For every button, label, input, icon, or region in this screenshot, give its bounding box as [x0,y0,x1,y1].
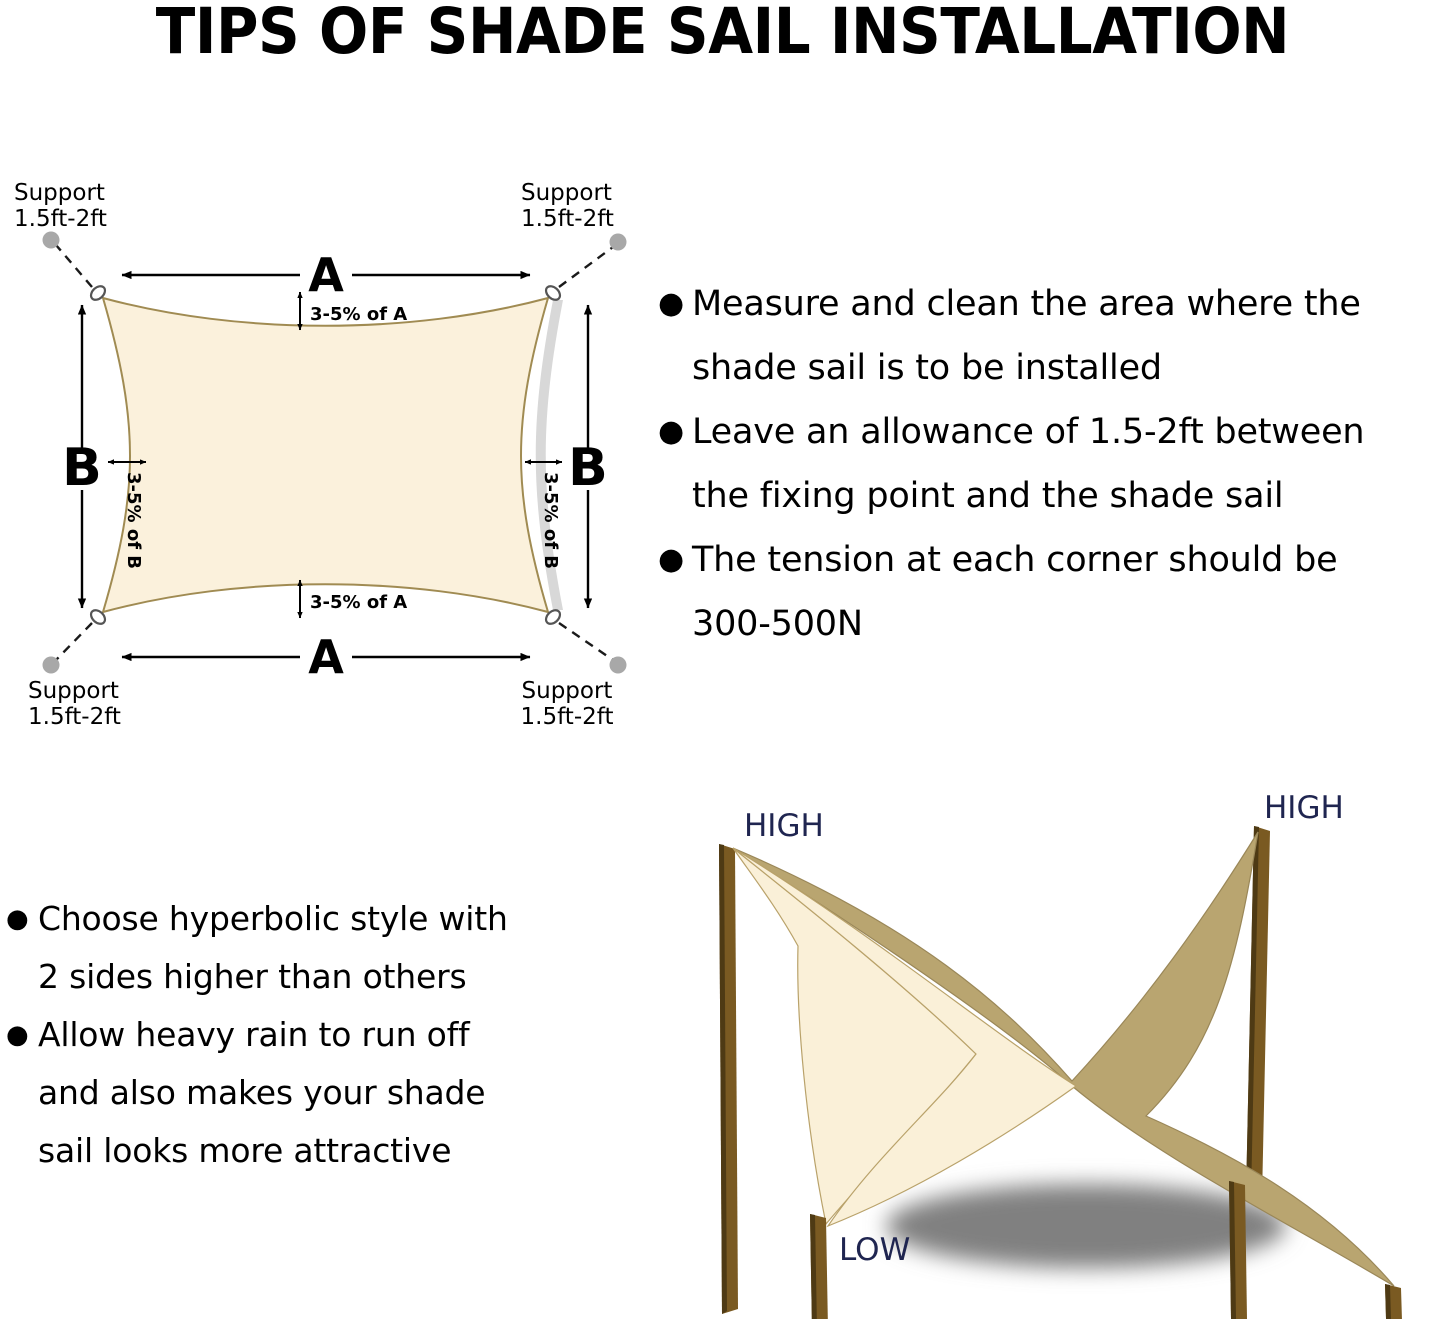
page-title: TIPS OF SHADE SAIL INSTALLATION [58,0,1387,68]
support-label-top-left-line2: 1.5ft-2ft [14,206,107,232]
list-item-continuation: 300-500N [648,592,1445,656]
support-label-bottom-left: Support 1.5ft-2ft [28,678,121,730]
support-label-bottom-left-line1: Support [28,678,119,704]
bullet-icon: ● [648,528,692,592]
list-item-label-line2: and also makes your shade [38,1064,620,1122]
support-dot-top-right [610,234,627,251]
post-low-left [810,1214,829,1319]
hyperbolic-shade-sail-illustration: HIGH HIGH LOW LOW [676,786,1445,1319]
support-label-bottom-left-line2: 1.5ft-2ft [28,704,121,730]
label-high-right: HIGH [1264,790,1344,826]
list-item-continuation: shade sail is to be installed [648,336,1445,400]
list-item-label: Leave an allowance of 1.5-2ft between [692,400,1445,464]
ground-shadow [886,1184,1286,1268]
installation-tips-list-bottom: ● Choose hyperbolic style with 2 sides h… [0,890,620,1180]
dimension-a-bottom-label: A [308,630,344,684]
sail-body [103,298,548,612]
curve-depth-b-left-label: 3-5% of B [123,472,144,569]
curve-depth-a-bottom-label: 3-5% of A [310,592,407,613]
list-item-label-line2: shade sail is to be installed [692,336,1445,400]
list-item: ● The tension at each corner should be [648,528,1445,592]
list-item-label-line2: 2 sides higher than others [38,948,620,1006]
list-item-label: Choose hyperbolic style with [38,890,620,948]
dimension-a-top-label: A [308,248,344,302]
support-label-bottom-right-line1: Support [522,678,613,704]
support-label-top-left: Support 1.5ft-2ft [14,180,107,232]
list-item-continuation: the fixing point and the shade sail [648,464,1445,528]
support-dot-top-left [43,232,60,249]
bullet-icon: ● [0,890,38,948]
dimension-b-right-label: B [568,438,608,498]
support-label-top-left-line1: Support [14,180,105,206]
list-item-label-line2: 300-500N [692,592,1445,656]
support-dot-bottom-right [610,657,627,674]
list-item-label: Allow heavy rain to run off [38,1006,620,1064]
label-high-left: HIGH [744,808,824,844]
bullet-icon: ● [0,1006,38,1064]
support-label-top-right-line1: Support [521,180,612,206]
list-item-continuation: and also makes your shade [0,1064,620,1122]
curve-depth-a-top-label: 3-5% of A [310,304,407,325]
list-item: ● Allow heavy rain to run off [0,1006,620,1064]
list-item: ● Choose hyperbolic style with [0,890,620,948]
list-item-label: Measure and clean the area where the [692,272,1445,336]
list-item-continuation: 2 sides higher than others [0,948,620,1006]
support-label-bottom-right-line2: 1.5ft-2ft [521,704,614,730]
post-support-midright [1229,1181,1248,1319]
rectangular-shade-sail-diagram: A A B B 3-5% of A 3-5% of A 3-5% of B 3-… [0,160,660,740]
list-item-label-line2: the fixing point and the shade sail [692,464,1445,528]
support-label-bottom-right: Support 1.5ft-2ft [521,678,614,730]
support-label-top-right: Support 1.5ft-2ft [521,180,614,232]
bullet-icon: ● [648,400,692,464]
curve-depth-b-right-label: 3-5% of B [540,472,561,569]
list-item: ● Measure and clean the area where the [648,272,1445,336]
list-item-continuation: sail looks more attractive [0,1122,620,1180]
installation-tips-list-top: ● Measure and clean the area where the s… [648,272,1445,656]
list-item-label-line3: sail looks more attractive [38,1122,620,1180]
post-high-left [719,844,738,1314]
dimension-b-left-label: B [62,438,102,498]
support-label-top-right-line2: 1.5ft-2ft [521,206,614,232]
bullet-icon: ● [648,272,692,336]
list-item: ● Leave an allowance of 1.5-2ft between [648,400,1445,464]
list-item-label: The tension at each corner should be [692,528,1445,592]
post-low-right [1385,1284,1404,1319]
support-dot-bottom-left [43,657,60,674]
label-low-left: LOW [839,1232,910,1268]
